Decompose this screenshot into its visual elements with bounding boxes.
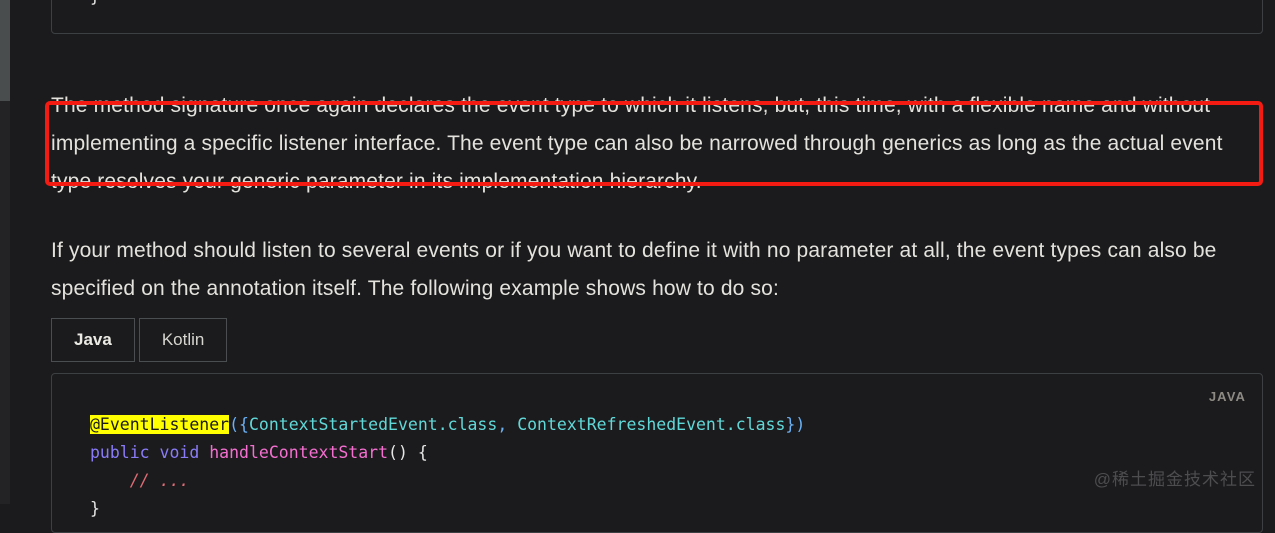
tab-kotlin[interactable]: Kotlin [139,318,228,362]
code-token-fn: handleContextStart [209,443,388,462]
code-token-kw: void [160,443,200,462]
watermark-label: @稀土掘金技术社区 [1094,465,1256,490]
code-token-paren: }) [785,415,805,434]
code-block-source[interactable]: @EventListener({ContextStartedEvent.clas… [90,411,805,523]
code-token-paren: ({ [229,415,249,434]
paragraph-method-signature: The method signature once again declares… [51,87,1241,201]
page-scrollbar[interactable] [0,0,10,504]
code-token-plain: () { [388,443,428,462]
code-line: public void handleContextStart() { [90,443,428,462]
code-token-type: ContextRefreshedEvent.class [517,415,785,434]
code-token-plain: } [90,499,100,518]
previous-code-block: } [51,0,1263,34]
tab-java[interactable]: Java [51,318,135,362]
previous-code-block-line: } [90,0,100,6]
page-scrollbar-thumb[interactable] [0,0,10,101]
code-token-paren: , [497,415,517,434]
paragraph-several-events: If your method should listen to several … [51,232,1241,308]
code-line: @EventListener({ContextStartedEvent.clas… [90,415,805,434]
code-token-plain [199,443,209,462]
code-language-label: JAVA [1209,389,1246,404]
code-block-java[interactable]: JAVA @EventListener({ContextStartedEvent… [51,373,1263,533]
code-token-cmt: // ... [90,471,189,490]
code-token-ann-hl: @EventListener [90,415,229,434]
document-content: } The method signature once again declar… [10,0,1275,504]
code-token-type: ContextStartedEvent.class [249,415,497,434]
code-token-plain [150,443,160,462]
code-token-kw: public [90,443,150,462]
code-line: // ... [90,471,189,490]
code-line: } [90,499,100,518]
language-tab-group: Java Kotlin [51,318,227,362]
